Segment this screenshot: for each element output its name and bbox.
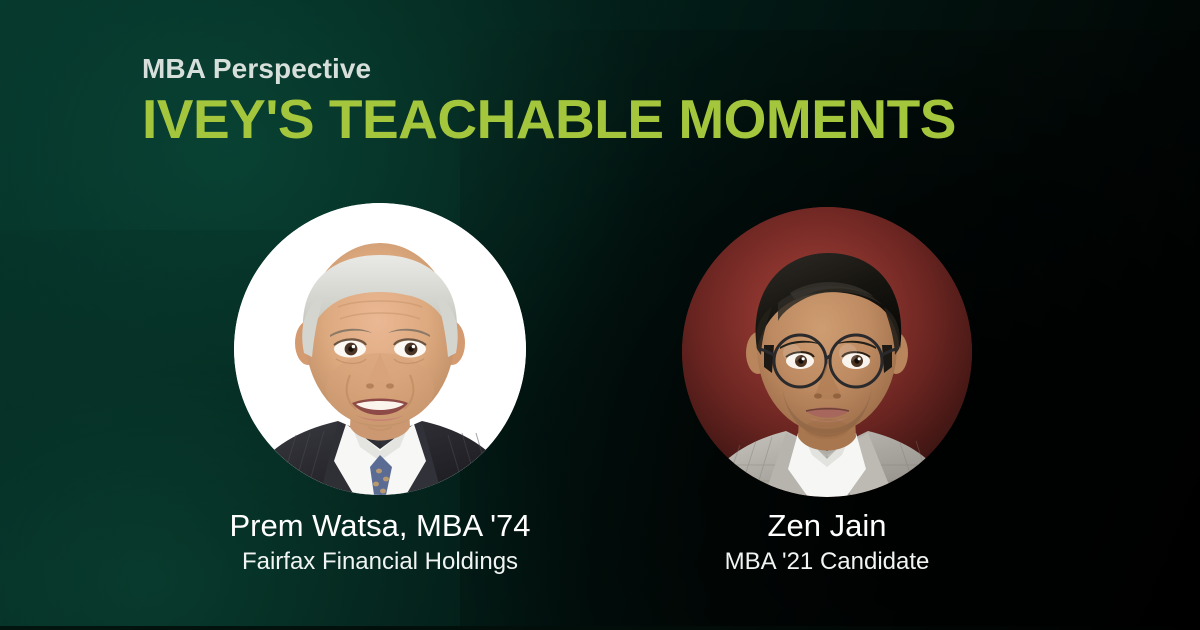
headline-block: MBA Perspective IVEY'S TEACHABLE MOMENTS — [142, 54, 1082, 149]
person-name: Prem Watsa, MBA '74 — [180, 508, 580, 545]
bottom-edge-line — [0, 626, 1200, 630]
person-name: Zen Jain — [662, 508, 992, 545]
person-subtitle: MBA '21 Candidate — [662, 548, 992, 577]
caption-prem-watsa: Prem Watsa, MBA '74 Fairfax Financial Ho… — [180, 508, 580, 576]
caption-zen-jain: Zen Jain MBA '21 Candidate — [662, 508, 992, 576]
eyebrow-text: MBA Perspective — [142, 54, 1082, 85]
person-subtitle: Fairfax Financial Holdings — [180, 548, 580, 577]
portrait-prem-watsa — [234, 203, 526, 495]
poster-canvas: MBA Perspective IVEY'S TEACHABLE MOMENTS — [0, 0, 1200, 630]
portrait-zen-jain — [682, 207, 972, 497]
page-title: IVEY'S TEACHABLE MOMENTS — [142, 91, 1082, 149]
